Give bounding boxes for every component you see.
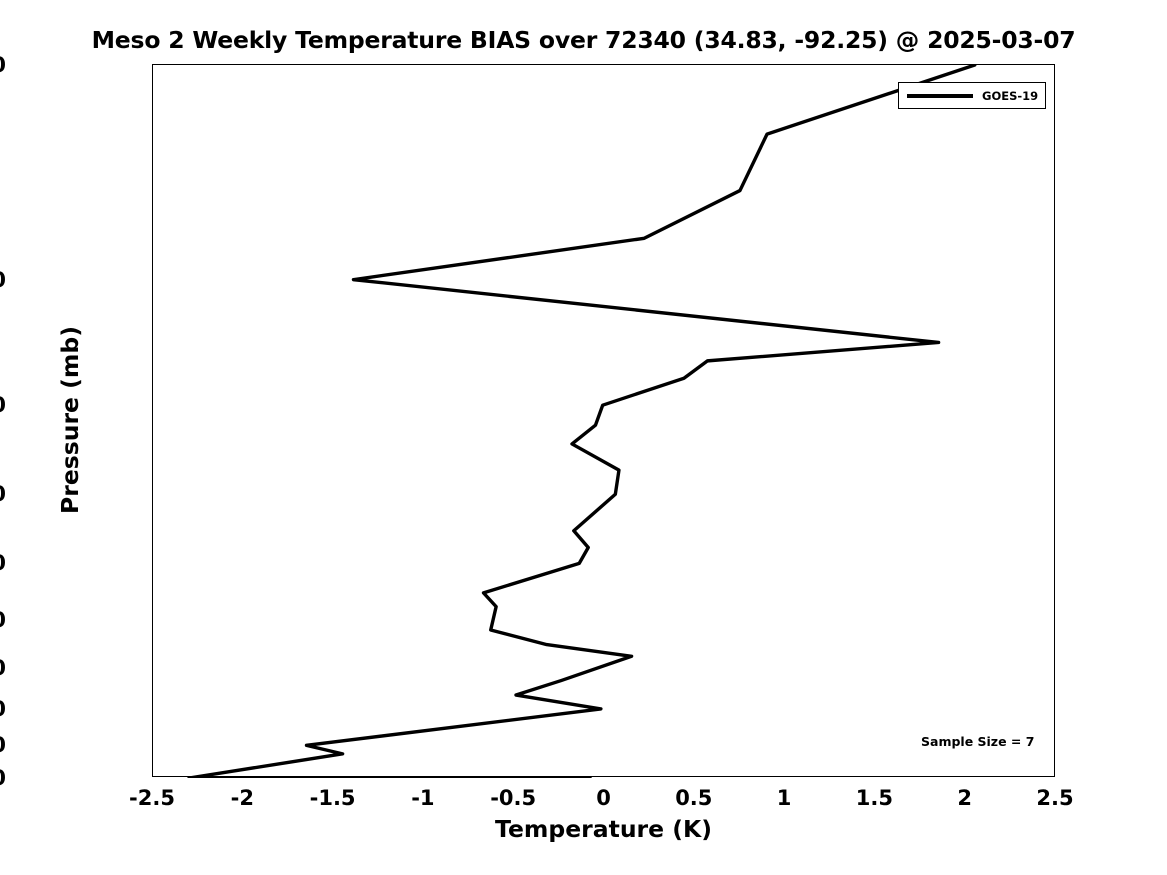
y-tick-label-300: 300 (0, 393, 6, 417)
legend-label-goes19: GOES-19 (982, 89, 1038, 103)
y-tick-label-800: 800 (0, 697, 6, 721)
y-tick-label-100: 100 (0, 53, 6, 77)
page-title: Meso 2 Weekly Temperature BIAS over 7234… (0, 26, 1167, 54)
x-axis-label: Temperature (K) (152, 815, 1055, 843)
legend-swatch-goes19 (907, 94, 973, 98)
y-axis-label: Pressure (mb) (56, 290, 84, 550)
x-tick-label-10: 2.5 (995, 786, 1115, 810)
y-tick-label-200: 200 (0, 268, 6, 292)
legend: GOES-19 (898, 82, 1046, 109)
sample-size-annotation: Sample Size = 7 (921, 734, 1034, 749)
plot-area (152, 64, 1055, 777)
y-tick-label-600: 600 (0, 608, 6, 632)
series-plot (153, 65, 1056, 778)
y-tick-label-400: 400 (0, 482, 6, 506)
chart-canvas: Meso 2 Weekly Temperature BIAS over 7234… (0, 0, 1167, 875)
y-tick-label-1000: 1000 (0, 766, 6, 790)
y-tick-label-900: 900 (0, 733, 6, 757)
series-line-goes19 (189, 65, 975, 778)
y-tick-label-500: 500 (0, 551, 6, 575)
y-tick-label-700: 700 (0, 656, 6, 680)
